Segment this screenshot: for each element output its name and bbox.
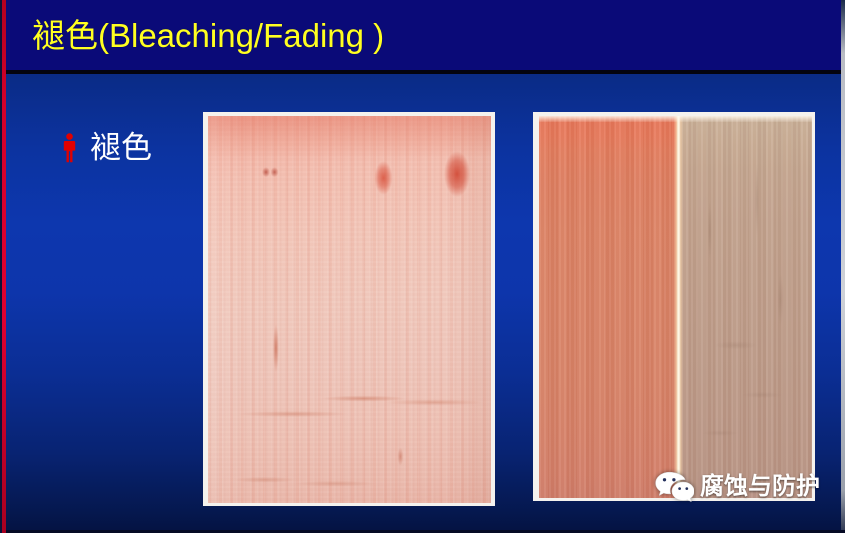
wechat-logo-icon [654,471,694,503]
two-tone-copper-panel-photo [533,112,815,501]
panel-tan-half [681,116,812,498]
panel-orange-half [539,116,677,498]
panel-divider-line [674,116,682,498]
page-title: 褪色(Bleaching/Fading ) [32,14,384,58]
two-tone-copper-panel-image [539,116,812,498]
person-bullet-icon [62,133,77,163]
faded-copper-plate-photo [203,112,495,506]
title-band-underline [0,70,845,74]
left-border-red-stripe [2,0,6,533]
bullet-item-fading: 褪色 [62,131,152,165]
faded-copper-plate-image [208,116,491,503]
watermark-text: 腐蚀与防护 [700,474,820,500]
watermark: 腐蚀与防护 [654,471,820,503]
slide-canvas: 褪色(Bleaching/Fading ) 褪色 腐蚀与防护 [0,0,845,533]
right-border [841,0,845,533]
bullet-label-fading: 褪色 [90,131,152,165]
